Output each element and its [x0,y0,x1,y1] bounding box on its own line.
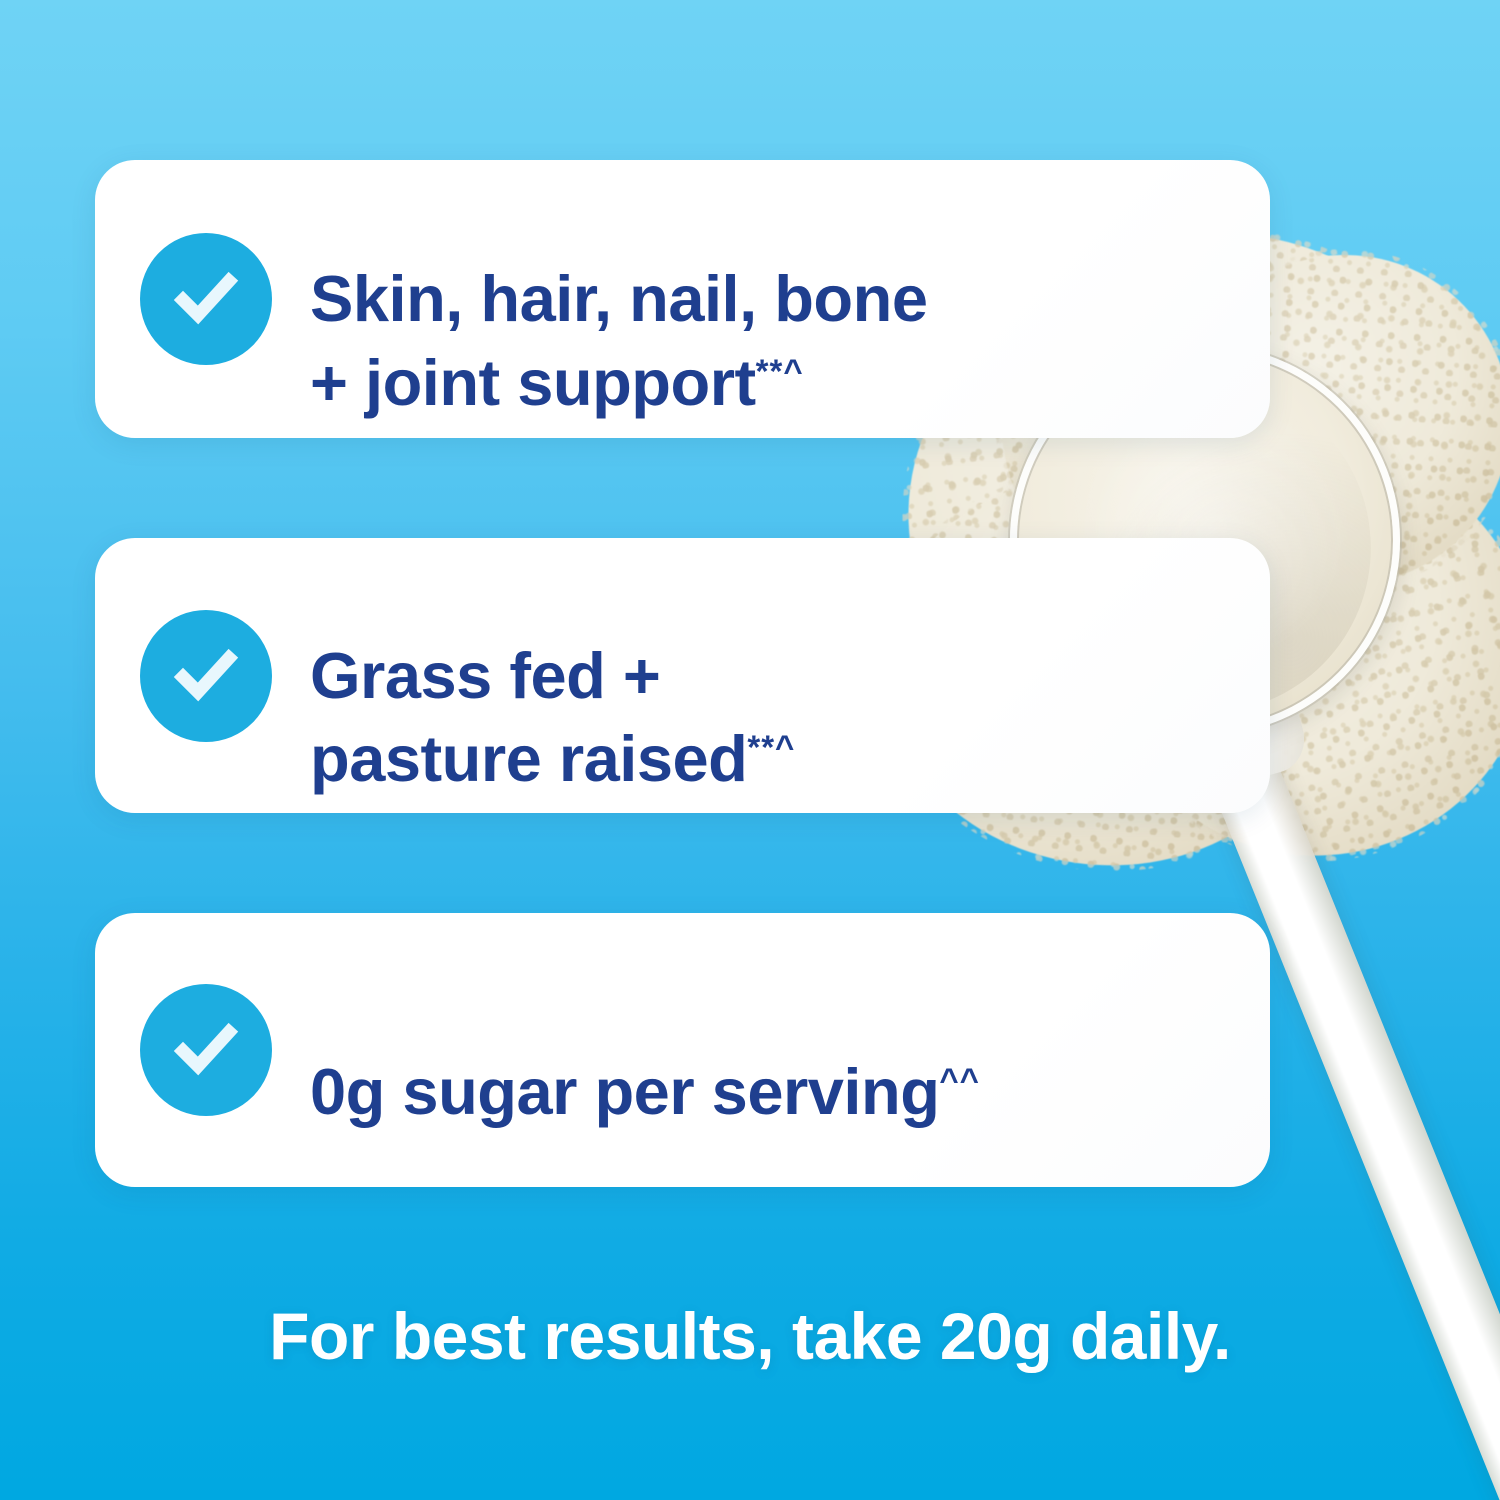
feature-card-2-text: Grass fed + pasture raised**^ [310,551,795,801]
check-circle-icon [140,984,272,1116]
feature-card-1-label: Skin, hair, nail, bone + joint support [310,262,927,418]
feature-card-3-label: 0g sugar per serving [310,1055,939,1128]
feature-card-2: Grass fed + pasture raised**^ [95,538,1270,813]
feature-card-1-superscript: **^ [756,352,804,389]
feature-card-1-text: Skin, hair, nail, bone + joint support**… [310,174,927,424]
check-circle-icon [140,233,272,365]
feature-card-3-superscript: ^^ [939,1061,980,1098]
dosage-note: For best results, take 20g daily. [0,1298,1500,1374]
product-feature-banner: Skin, hair, nail, bone + joint support**… [0,0,1500,1500]
check-circle-icon [140,610,272,742]
feature-card-3: 0g sugar per serving^^ [95,913,1270,1187]
feature-card-2-superscript: **^ [747,728,795,765]
feature-card-2-label: Grass fed + pasture raised [310,639,747,795]
feature-card-1: Skin, hair, nail, bone + joint support**… [95,160,1270,438]
feature-card-3-text: 0g sugar per serving^^ [310,967,980,1133]
